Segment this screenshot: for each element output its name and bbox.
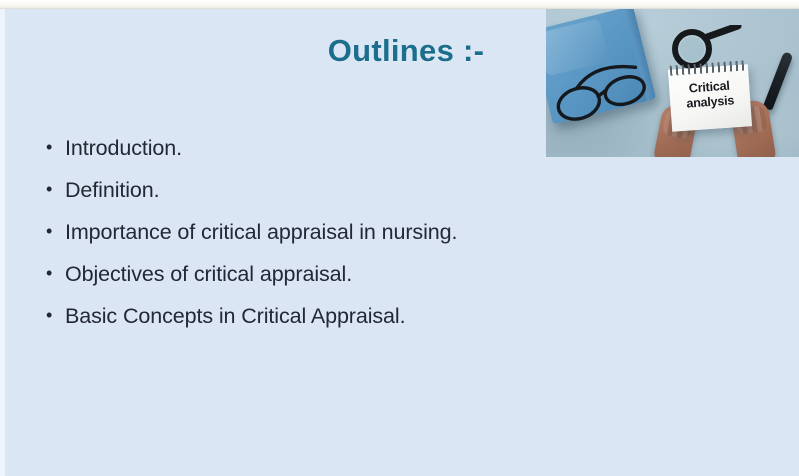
bullet-item-introduction: Introduction. [44, 131, 524, 165]
presentation-slide: Outlines :- Introduction. Definition. Im… [0, 0, 799, 476]
spiral-notepad: Critical analysis [668, 64, 752, 131]
top-margin-strip [0, 0, 799, 9]
outline-bullet-list: Introduction. Definition. Importance of … [44, 131, 524, 341]
bullet-item-basic-concepts: Basic Concepts in Critical Appraisal. [44, 299, 524, 333]
critical-analysis-photo: Critical analysis [546, 9, 799, 157]
notepad-text: Critical analysis [669, 77, 751, 113]
eyeglasses-icon [551, 58, 653, 130]
bullet-item-importance: Importance of critical appraisal in nurs… [44, 215, 495, 249]
bullet-item-objectives: Objectives of critical appraisal. [44, 257, 524, 291]
bullet-item-definition: Definition. [44, 173, 524, 207]
